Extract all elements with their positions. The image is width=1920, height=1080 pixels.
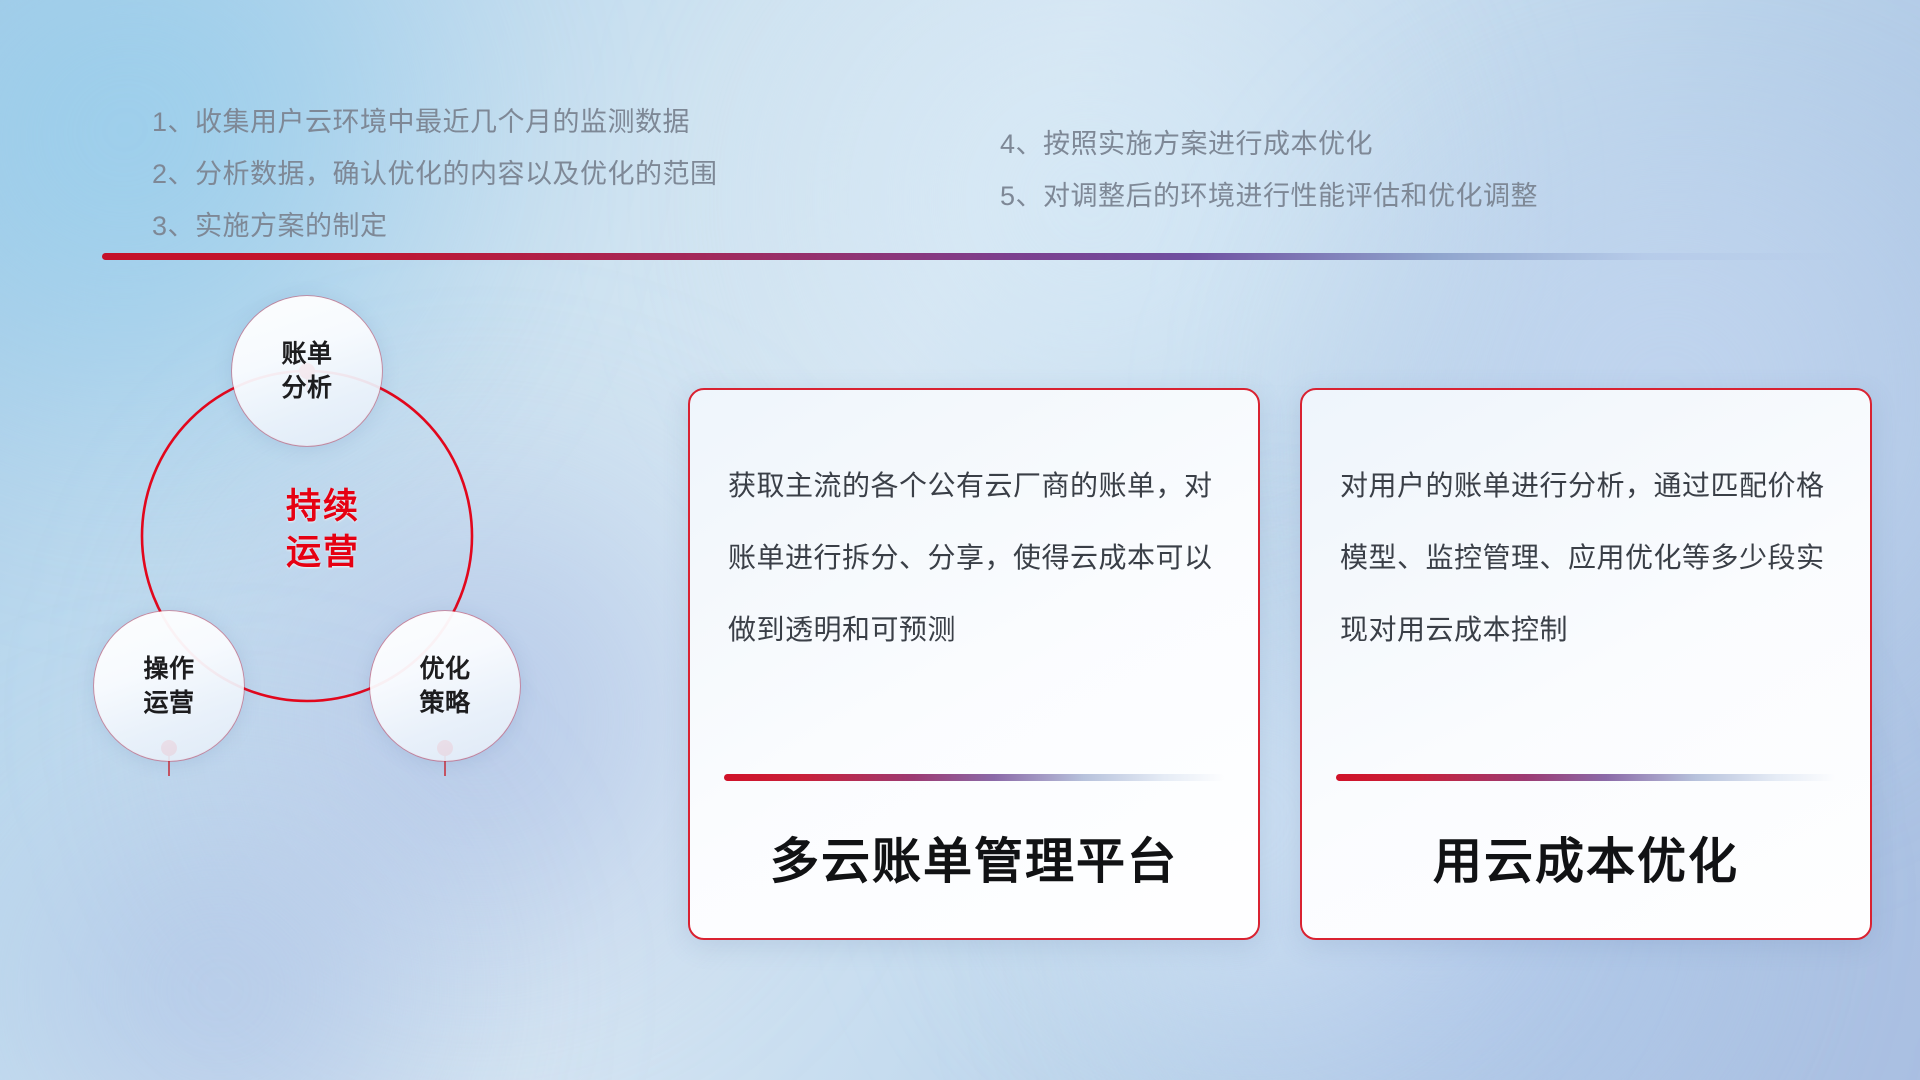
venn-lobe-optimization-strategy-line-2: 策略 (419, 686, 470, 720)
process-steps-left-column: 1、收集用户云环境中最近几个月的监测数据 2、分析数据，确认优化的内容以及优化的… (152, 96, 718, 252)
venn-lobe-optimization-strategy-label: 优化 策略 (419, 652, 470, 720)
card-cloud-cost-optimization-body: 对用户的账单进行分析，通过匹配价格模型、监控管理、应用优化等多少段实现对用云成本… (1340, 450, 1840, 666)
process-steps-right-column: 4、按照实施方案进行成本优化 5、对调整后的环境进行性能评估和优化调整 (1000, 118, 1538, 222)
venn-lobe-operations-label: 操作 运营 (143, 652, 194, 720)
venn-lobe-optimization-strategy-line-1: 优化 (419, 652, 470, 686)
venn-lobe-operations[interactable]: 操作 运营 (94, 611, 244, 761)
card-multi-cloud-billing-platform-body: 获取主流的各个公有云厂商的账单，对账单进行拆分、分享，使得云成本可以做到透明和可… (728, 450, 1228, 666)
process-step-2: 2、分析数据，确认优化的内容以及优化的范围 (152, 148, 718, 200)
venn-center-label: 持续 运营 (88, 484, 558, 576)
venn-center-line-2: 运营 (88, 530, 558, 576)
venn-lobe-optimization-strategy[interactable]: 优化 策略 (370, 611, 520, 761)
card-cloud-cost-optimization[interactable]: 对用户的账单进行分析，通过匹配价格模型、监控管理、应用优化等多少段实现对用云成本… (1300, 388, 1872, 940)
card-multi-cloud-billing-platform-rule (724, 774, 1224, 781)
process-step-4: 4、按照实施方案进行成本优化 (1000, 118, 1538, 170)
venn-lobe-bill-analysis[interactable]: 账单 分析 (232, 296, 382, 446)
venn-lobe-operations-line-1: 操作 (143, 652, 194, 686)
card-multi-cloud-billing-platform-title: 多云账单管理平台 (690, 822, 1258, 893)
header-divider-rule (102, 253, 1856, 260)
process-steps-region: 1、收集用户云环境中最近几个月的监测数据 2、分析数据，确认优化的内容以及优化的… (0, 0, 1920, 260)
venn-lobe-operations-line-2: 运营 (143, 686, 194, 720)
venn-lobe-bill-analysis-line-2: 分析 (281, 371, 332, 405)
venn-lobe-bill-analysis-line-1: 账单 (281, 337, 332, 371)
process-step-5: 5、对调整后的环境进行性能评估和优化调整 (1000, 170, 1538, 222)
card-cloud-cost-optimization-title: 用云成本优化 (1302, 822, 1870, 893)
process-step-3: 3、实施方案的制定 (152, 200, 718, 252)
continuous-operation-venn-diagram: 账单 分析 操作 运营 优化 策略 持续 运营 (88, 286, 558, 786)
card-cloud-cost-optimization-rule (1336, 774, 1836, 781)
process-step-1: 1、收集用户云环境中最近几个月的监测数据 (152, 96, 718, 148)
card-multi-cloud-billing-platform[interactable]: 获取主流的各个公有云厂商的账单，对账单进行拆分、分享，使得云成本可以做到透明和可… (688, 388, 1260, 940)
venn-lobe-bill-analysis-label: 账单 分析 (281, 337, 332, 405)
venn-center-line-1: 持续 (88, 484, 558, 530)
